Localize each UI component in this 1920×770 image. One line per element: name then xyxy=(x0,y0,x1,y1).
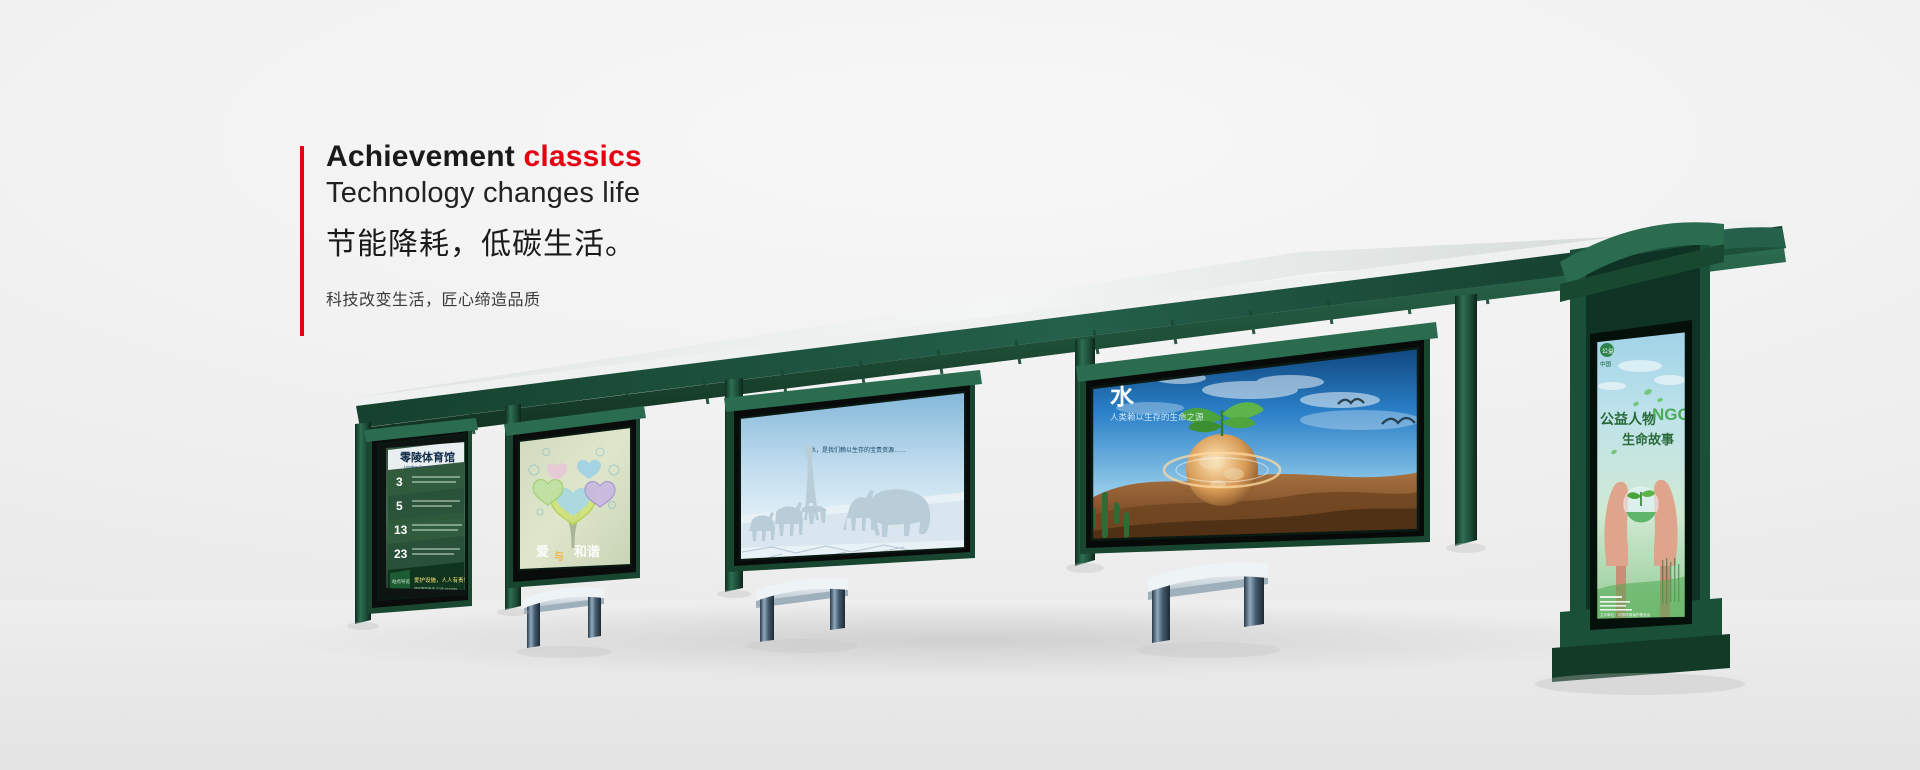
ground-shadow xyxy=(260,602,1660,678)
panel-vertical-lightbox[interactable]: 公益 中国 公益人物 NGO 生命故事 xyxy=(1552,222,1730,682)
panel4-headline: 水 xyxy=(1110,383,1135,410)
panel4-subhead: 人类赖以生存的生命之源 xyxy=(1110,412,1204,422)
panel3-caption: 水，是我们赖以生存的宝贵资源…… xyxy=(810,446,906,454)
panel2-headline: 爱 xyxy=(536,544,549,559)
lightbox-subhead: 生命故事 xyxy=(1622,432,1674,447)
globe-graphic xyxy=(1186,434,1258,506)
route-number-1: 5 xyxy=(396,499,403,513)
panel-ad-wildlife[interactable]: 水，是我们赖以生存的宝贵资源…… xyxy=(724,370,982,572)
route-number-3: 23 xyxy=(394,547,408,561)
post-5 xyxy=(1455,294,1477,546)
svg-text:公益: 公益 xyxy=(1602,347,1614,355)
svg-text:中国: 中国 xyxy=(1600,360,1612,368)
route-number-0: 3 xyxy=(396,475,403,489)
panel-ad-water[interactable]: 水 人类赖以生存的生命之源 xyxy=(1076,322,1438,554)
bus-shelter-render: 零陵体育馆 Lingling Gymnasium 3 5 13 23 xyxy=(0,0,1920,770)
schedule-rows: 3 5 13 23 xyxy=(388,464,464,573)
schedule-footer: 爱护设施，人人有责！ xyxy=(414,576,469,584)
route-number-2: 13 xyxy=(394,523,408,537)
lightbox-headline: 公益人物 xyxy=(1600,411,1656,427)
panel2-headline-end: 和谐 xyxy=(574,544,600,559)
schedule-title-cn: 零陵体育馆 xyxy=(399,450,455,464)
lightbox-footer: 主办单位：中国环境保护基金会 xyxy=(1600,612,1651,617)
panel-schedule-board[interactable]: 零陵体育馆 Lingling Gymnasium 3 5 13 23 xyxy=(364,418,478,614)
panel2-headline-mid: 与 xyxy=(554,550,564,563)
schedule-side-tag: 站点导览 xyxy=(392,578,410,585)
panel-ad-heart-tree[interactable]: 爱 与 和谐 xyxy=(504,406,646,588)
